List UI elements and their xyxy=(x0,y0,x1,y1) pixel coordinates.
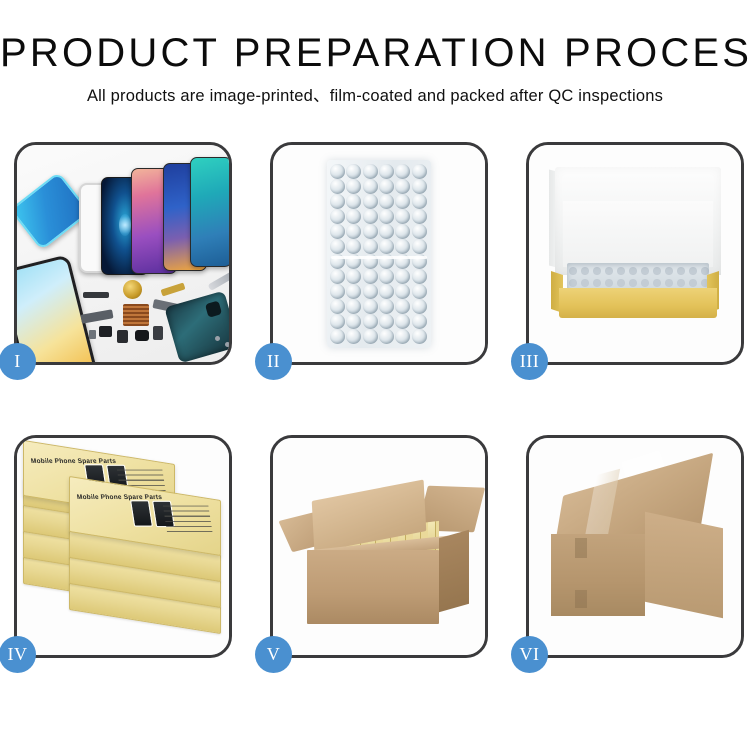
page-header: PRODUCT PREPARATION PROCESS All products… xyxy=(0,0,750,107)
step-3-image xyxy=(529,145,741,362)
part-antenna-bar xyxy=(83,292,109,298)
sealed-carton-seam-top xyxy=(575,538,587,558)
step-number-badge-2: II xyxy=(255,343,292,380)
sealed-carton-side xyxy=(645,512,723,619)
spare-parts-group xyxy=(75,278,229,362)
carton-side-wall xyxy=(439,530,469,613)
process-step-panel-2[interactable]: II xyxy=(270,142,488,365)
part-camera-module xyxy=(135,330,149,341)
part-screw-1 xyxy=(215,336,220,341)
step-6-image xyxy=(529,438,741,655)
process-step-panel-1[interactable]: I xyxy=(14,142,232,365)
box-label-text-top: Mobile Phone Spare Parts xyxy=(30,458,116,465)
step-number-badge-1: I xyxy=(0,343,36,380)
part-connector-2 xyxy=(117,330,128,343)
box-label-text-second: Mobile Phone Spare Parts xyxy=(76,494,162,501)
part-flex-cable-1 xyxy=(80,309,113,323)
process-step-panel-4[interactable]: Mobile Phone Spare Parts Mobile Phone Sp… xyxy=(14,435,232,658)
page-subtitle: All products are image-printed、film-coat… xyxy=(0,85,750,107)
phone-back-housing xyxy=(164,291,229,362)
step-number-badge-6: VI xyxy=(511,636,548,673)
part-screw-2 xyxy=(225,342,229,347)
bubble-wrap-seam xyxy=(331,256,427,259)
step-number-badge-5: V xyxy=(255,636,292,673)
process-step-panel-3[interactable]: III xyxy=(526,142,744,365)
box-front-wall xyxy=(559,288,717,318)
step-4-image: Mobile Phone Spare Parts Mobile Phone Sp… xyxy=(17,438,229,655)
bubble-wrap-sheet xyxy=(327,160,431,348)
carton-front-wall xyxy=(307,550,439,624)
bubble-grid xyxy=(330,164,428,344)
box-spec-lines-second xyxy=(163,506,213,536)
step-2-image xyxy=(273,145,485,362)
step-number-badge-3: III xyxy=(511,343,548,380)
part-vibration-motor xyxy=(123,280,142,299)
phone-screen-teal xyxy=(190,157,229,267)
part-connector-1 xyxy=(99,326,112,337)
sealed-carton-seam-bottom xyxy=(575,590,587,608)
process-steps-grid: I xyxy=(14,142,745,658)
part-connector-3 xyxy=(153,326,163,340)
process-step-panel-6[interactable]: VI xyxy=(526,435,744,658)
process-step-panel-5[interactable]: V xyxy=(270,435,488,658)
part-small-chip xyxy=(89,330,96,339)
box-screen-image-3 xyxy=(130,500,153,526)
step-1-image xyxy=(17,145,229,362)
page-title: PRODUCT PREPARATION PROCESS xyxy=(0,30,750,76)
sealed-carton-front xyxy=(551,534,645,616)
step-number-badge-4: IV xyxy=(0,636,36,673)
repair-tweezers-icon xyxy=(208,268,229,291)
part-speaker-mesh xyxy=(123,304,149,326)
step-5-image xyxy=(273,438,485,655)
part-flex-cable-3 xyxy=(161,282,186,296)
box-foam-liner xyxy=(563,201,713,267)
box-stack: Mobile Phone Spare Parts Mobile Phone Sp… xyxy=(17,438,229,655)
